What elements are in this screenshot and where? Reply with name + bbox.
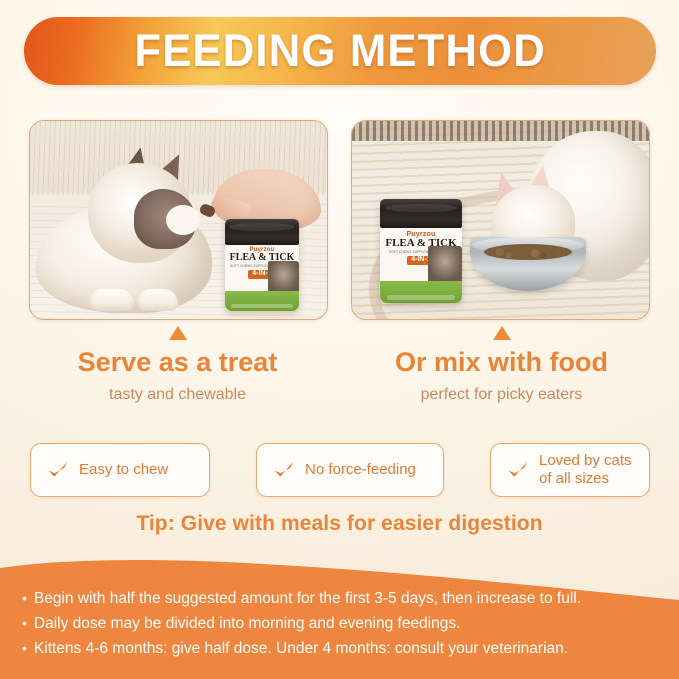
kibble-food: [484, 244, 572, 260]
triangle-pointer-icon: [169, 326, 187, 340]
note-item: • Begin with half the suggested amount f…: [22, 586, 667, 611]
jar-label: Puyrzou FLEA & TICK SOFT CHEWS SUPPLEMEN…: [225, 245, 299, 311]
cat-paw-left: [90, 289, 134, 311]
heading-serve-as-treat: Serve as a treat tasty and chewable: [29, 326, 326, 404]
jar-label: Puyrzou FLEA & TICK SOFT CHEWS SUPPLEMEN…: [380, 228, 462, 303]
supplement-jar-right: Puyrzou FLEA & TICK SOFT CHEWS SUPPLEMEN…: [380, 199, 462, 303]
note-text: Begin with half the suggested amount for…: [34, 586, 581, 611]
checkmark-icon: [272, 458, 296, 482]
page-title: FEEDING METHOD: [134, 25, 546, 77]
tip-text: Tip: Give with meals for easier digestio…: [0, 512, 679, 536]
heading-title: Serve as a treat: [29, 348, 326, 378]
notes-list: • Begin with half the suggested amount f…: [22, 586, 667, 661]
bullet-dot-icon: •: [22, 616, 27, 630]
cat-paw-right: [138, 289, 178, 311]
panel-serve-as-treat: Puyrzou FLEA & TICK SOFT CHEWS SUPPLEMEN…: [29, 120, 328, 320]
supplement-jar-left: Puyrzou FLEA & TICK SOFT CHEWS SUPPLEMEN…: [225, 219, 299, 311]
panel-mix-with-food: Puyrzou FLEA & TICK SOFT CHEWS SUPPLEMEN…: [351, 120, 650, 320]
jar-cat-photo: [428, 246, 462, 285]
feeding-notes-bar: • Begin with half the suggested amount f…: [0, 554, 679, 679]
feature-pill-label: Easy to chew: [79, 461, 168, 479]
bullet-dot-icon: •: [22, 641, 27, 655]
header-banner: FEEDING METHOD: [24, 17, 656, 85]
photo-cat-eating-bowl: Puyrzou FLEA & TICK SOFT CHEWS SUPPLEMEN…: [352, 121, 649, 319]
cat-muzzle: [166, 205, 200, 235]
jar-green-band: [380, 281, 462, 303]
feature-pill-easy-to-chew: Easy to chew: [30, 443, 210, 497]
jar-lid: [225, 219, 299, 245]
checkmark-icon: [46, 458, 70, 482]
jar-cat-photo: [268, 261, 299, 295]
feature-pills: Easy to chew No force-feeding Loved by c…: [30, 443, 650, 497]
feature-pill-no-force-feeding: No force-feeding: [256, 443, 444, 497]
heading-subtitle: tasty and chewable: [29, 385, 326, 404]
jar-green-band: [225, 291, 299, 311]
banner-pill: FEEDING METHOD: [24, 17, 656, 85]
panel-headings: Serve as a treat tasty and chewable Or m…: [29, 326, 650, 404]
note-item: • Kittens 4-6 months: give half dose. Un…: [22, 636, 667, 661]
photo-cat-hand-treat: Puyrzou FLEA & TICK SOFT CHEWS SUPPLEMEN…: [30, 121, 327, 319]
heading-title: Or mix with food: [353, 348, 650, 378]
feeding-method-infographic: FEEDING METHOD: [0, 0, 679, 679]
checkmark-icon: [506, 458, 530, 482]
note-text: Daily dose may be divided into morning a…: [34, 611, 461, 636]
photo-panels: Puyrzou FLEA & TICK SOFT CHEWS SUPPLEMEN…: [29, 120, 650, 318]
feature-pill-label: No force-feeding: [305, 461, 416, 479]
note-text: Kittens 4-6 months: give half dose. Unde…: [34, 636, 568, 661]
triangle-pointer-icon: [493, 326, 511, 340]
note-item: • Daily dose may be divided into morning…: [22, 611, 667, 636]
jar-lid: [380, 199, 462, 228]
heading-mix-with-food: Or mix with food perfect for picky eater…: [353, 326, 650, 404]
bullet-dot-icon: •: [22, 591, 27, 605]
feature-pill-loved-by-cats: Loved by cats of all sizes: [490, 443, 650, 497]
feature-pill-label: Loved by cats of all sizes: [539, 452, 632, 487]
heading-subtitle: perfect for picky eaters: [353, 385, 650, 404]
